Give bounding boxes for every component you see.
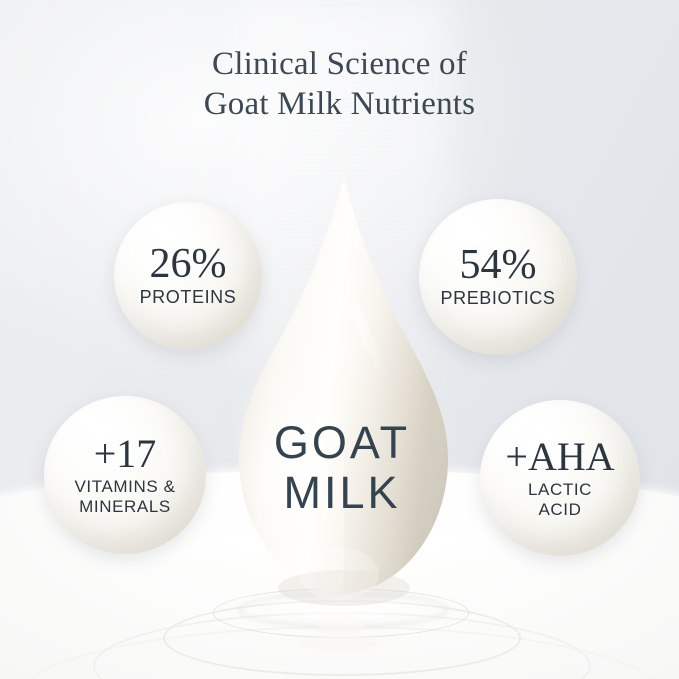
bubble-aha-label: LACTIC ACID: [528, 480, 592, 520]
bubble-prebiotics: 54% PREBIOTICS: [419, 199, 577, 355]
bubble-aha-value: +AHA: [505, 437, 614, 477]
bubble-vitamins-label: VITAMINS & MINERALS: [74, 477, 175, 517]
splash-crown: [318, 614, 364, 634]
bubble-proteins-label: PROTEINS: [140, 287, 237, 308]
splash-base: [300, 636, 384, 650]
infographic-canvas: Clinical Science of Goat Milk Nutrients: [0, 0, 679, 679]
bubble-prebiotics-value: 54%: [460, 245, 537, 285]
bubble-prebiotics-label: PREBIOTICS: [440, 288, 555, 309]
bubble-proteins: 26% PROTEINS: [114, 202, 262, 350]
bubble-aha: +AHA LACTIC ACID: [480, 400, 640, 556]
bubble-proteins-value: 26%: [150, 244, 227, 284]
page-title: Clinical Science of Goat Milk Nutrients: [0, 44, 679, 124]
bubble-vitamins: +17 VITAMINS & MINERALS: [44, 396, 206, 554]
bubble-vitamins-value: +17: [94, 434, 157, 474]
